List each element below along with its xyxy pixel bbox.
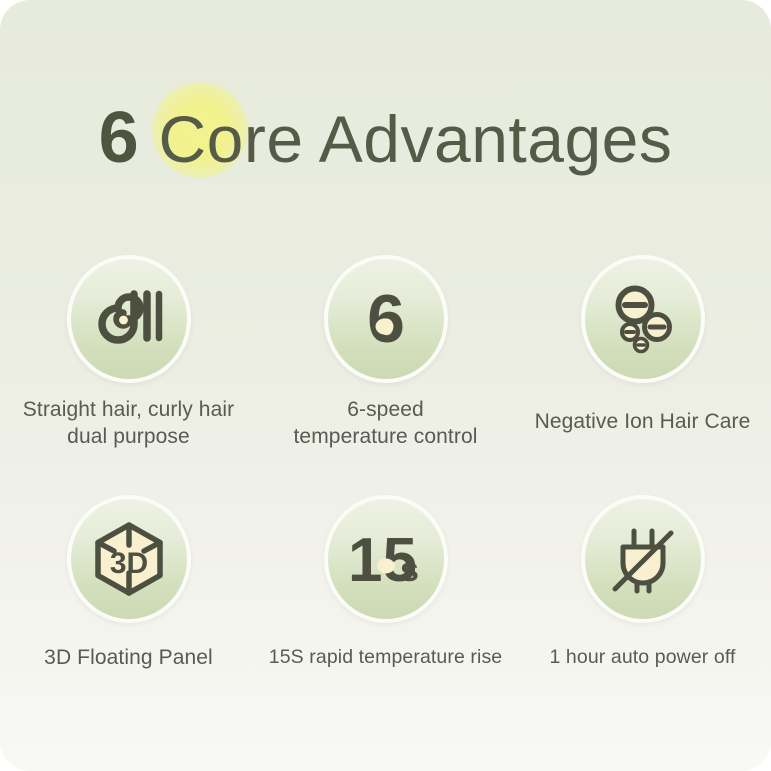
feature-badge-power-off (581, 495, 705, 623)
title-number: 6 (99, 98, 140, 178)
3d-cube-icon: 3D (88, 518, 170, 600)
curly-straight-hair-icon (90, 280, 168, 358)
feature-badge-3d-panel: 3D (67, 495, 191, 623)
plug-off-icon (603, 519, 683, 599)
svg-text:3D: 3D (109, 547, 147, 580)
feature-item-15s[interactable]: 15 s 15S rapid temperature rise (257, 495, 514, 672)
feature-badge-15s: 15 s (324, 495, 448, 623)
features-row-1: Straight hair, curly hair dual purpose 6… (0, 255, 771, 451)
feature-badge-hair (67, 255, 191, 383)
feature-item-negative-ion[interactable]: Negative Ion Hair Care (514, 255, 771, 451)
page-title: 6 Core Advantages (0, 88, 771, 188)
feature-caption-six-speed: 6-speed temperature control (294, 397, 478, 451)
feature-badge-six-speed: 6 (324, 255, 448, 383)
feature-caption-negative-ion: Negative Ion Hair Care (535, 409, 751, 436)
features-row-2: 3D 3D Floating Panel 15 s 15S rapid temp… (0, 495, 771, 672)
fifteen-seconds-icon: 15 s (338, 519, 434, 599)
feature-item-hair[interactable]: Straight hair, curly hair dual purpose (0, 255, 257, 451)
feature-badge-negative-ion (581, 255, 705, 383)
feature-item-six-speed[interactable]: 6 6-speed temperature control (257, 255, 514, 451)
feature-caption-hair: Straight hair, curly hair dual purpose (23, 397, 234, 451)
page-title-text: 6 Core Advantages (99, 97, 673, 179)
advantages-card: 6 Core Advantages Straight hair, curly h… (0, 0, 771, 771)
feature-caption-15s: 15S rapid temperature rise (269, 645, 502, 670)
feature-item-power-off[interactable]: 1 hour auto power off (514, 495, 771, 672)
feature-caption-power-off: 1 hour auto power off (549, 645, 735, 670)
number-six-icon: 6 (346, 279, 426, 359)
feature-caption-3d-panel: 3D Floating Panel (44, 645, 213, 672)
negative-ion-icon (603, 279, 683, 359)
svg-text:s: s (400, 551, 419, 589)
title-rest: Core Advantages (140, 102, 673, 176)
feature-item-3d-panel[interactable]: 3D 3D Floating Panel (0, 495, 257, 672)
